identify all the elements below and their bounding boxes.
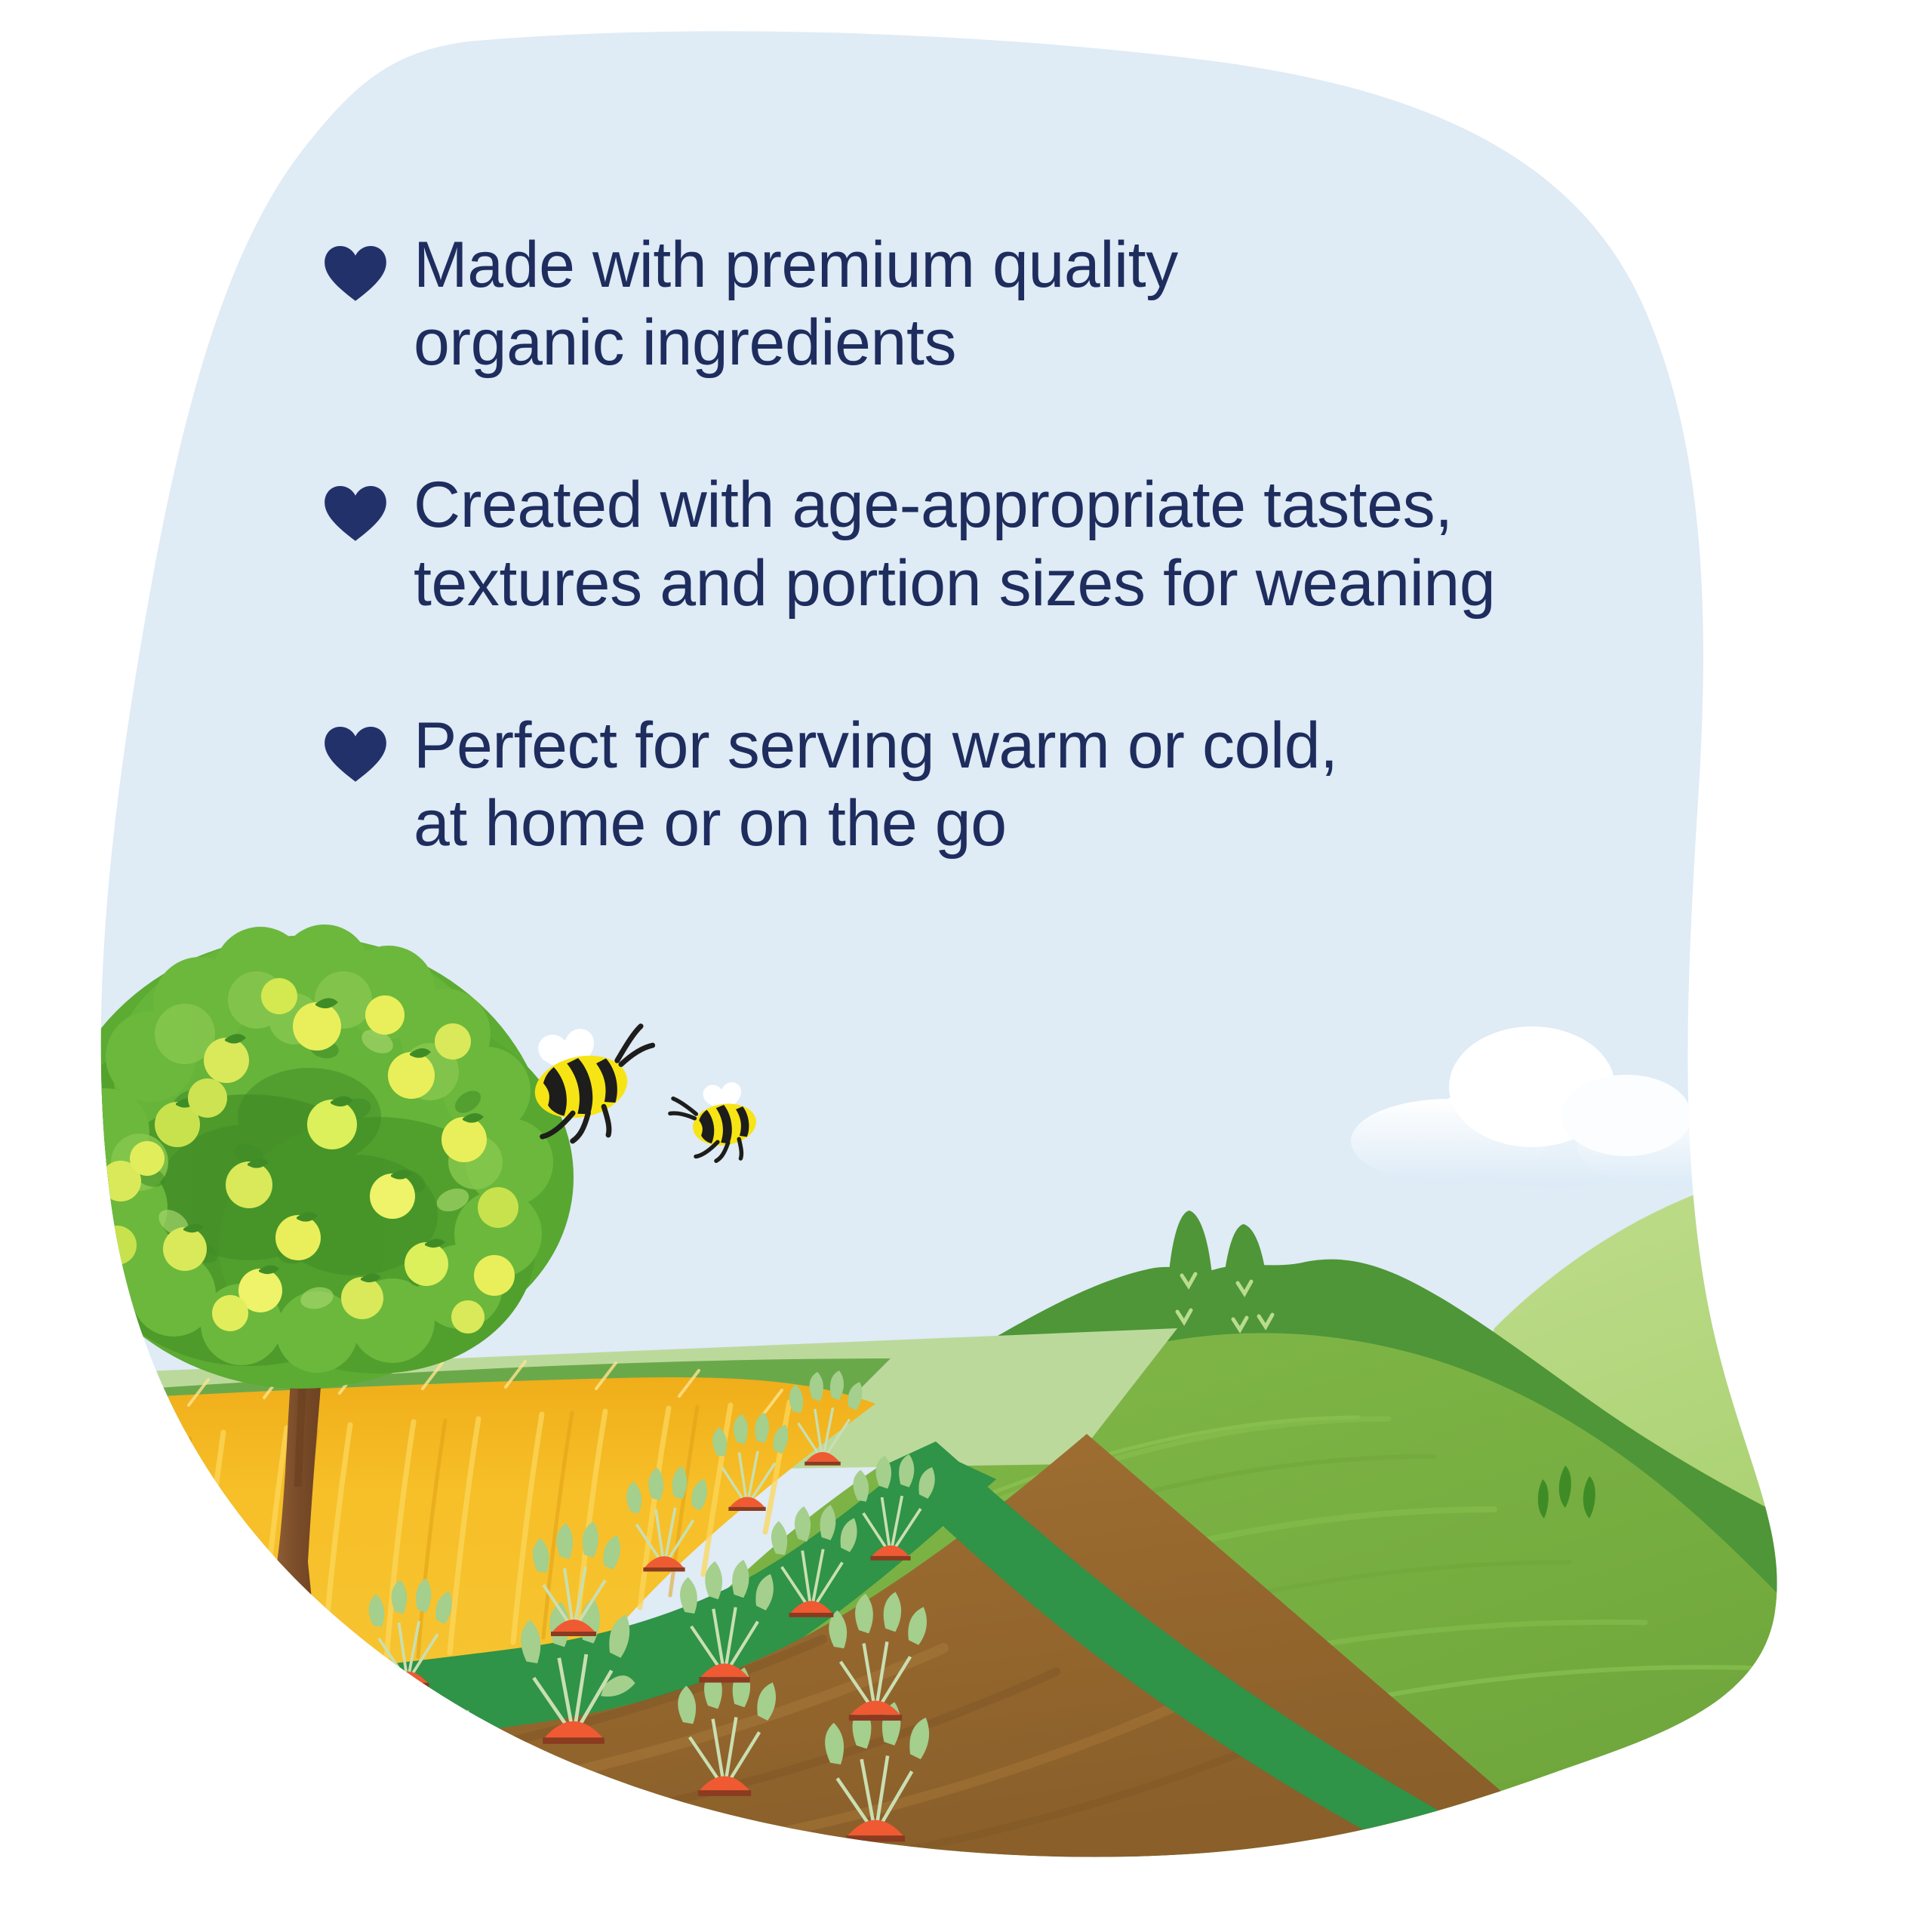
heart-icon	[325, 226, 414, 302]
benefit-text: Created with age-appropriate tastes, tex…	[414, 466, 1607, 622]
benefit-item-age-appropriate: Created with age-appropriate tastes, tex…	[325, 466, 1607, 622]
heart-icon	[325, 707, 414, 783]
yellow-patch-dots	[1781, 1385, 1861, 1429]
benefit-item-warm-or-cold: Perfect for serving warm or cold, at hom…	[325, 707, 1607, 863]
benefits-list: Made with premium quality organic ingred…	[325, 226, 1607, 863]
poster-canvas: Made with premium quality organic ingred…	[0, 0, 1932, 1932]
benefit-item-premium-organic: Made with premium quality organic ingred…	[325, 226, 1607, 382]
benefit-text: Made with premium quality organic ingred…	[414, 226, 1607, 382]
yellow-patch	[1766, 1355, 1932, 1483]
benefit-text: Perfect for serving warm or cold, at hom…	[414, 707, 1607, 863]
heart-icon	[325, 466, 414, 542]
